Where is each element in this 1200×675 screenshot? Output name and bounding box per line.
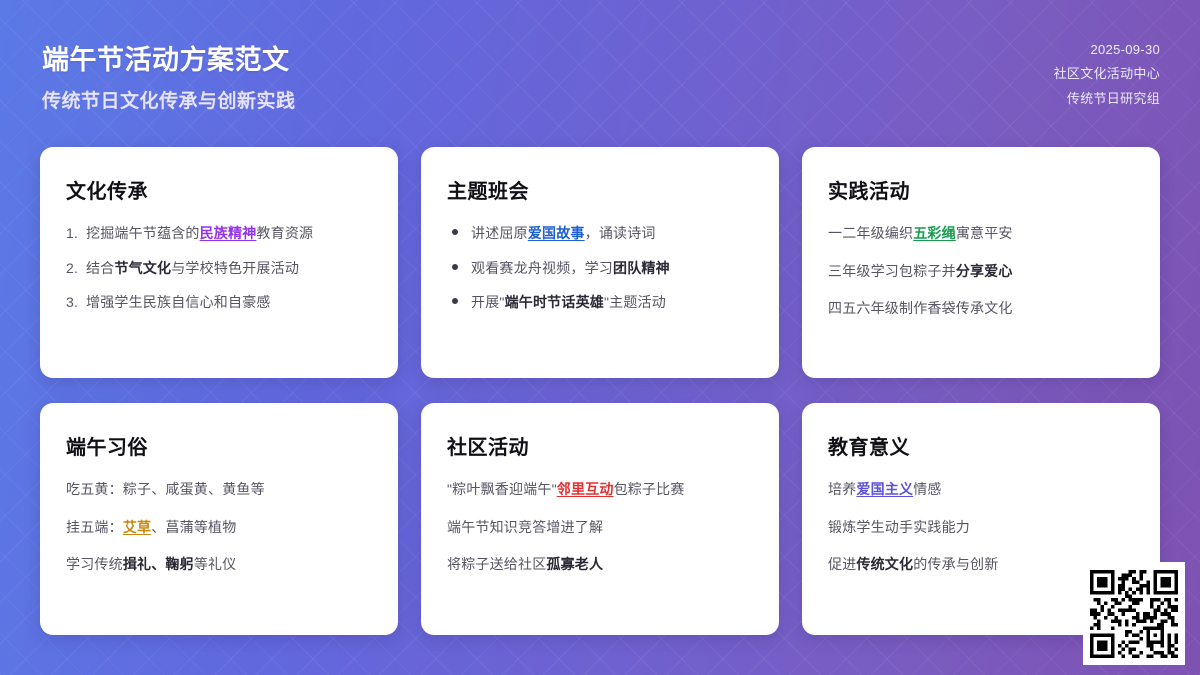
card-title: 实践活动 bbox=[828, 175, 1134, 204]
text-run: 挖掘端午节蕴含的 bbox=[86, 225, 200, 241]
list-item: 四五六年级制作香袋传承文化 bbox=[828, 298, 1134, 320]
highlight-term: 五彩绳 bbox=[913, 225, 956, 241]
emphasis-bold: 孤寡老人 bbox=[546, 556, 603, 572]
card-title: 社区活动 bbox=[447, 431, 753, 460]
text-run: 锻炼学生动手实践能力 bbox=[828, 519, 970, 535]
text-run: 促进 bbox=[828, 556, 856, 572]
card-title: 教育意义 bbox=[828, 431, 1134, 460]
list-item: 挂五端：艾草、菖蒲等植物 bbox=[66, 517, 372, 539]
emphasis-bold: 团队精神 bbox=[613, 260, 670, 276]
text-run: "粽叶飘香迎端午" bbox=[447, 481, 557, 497]
list-item: 1.挖掘端午节蕴含的民族精神教育资源 bbox=[66, 223, 372, 245]
list-marker: 3. bbox=[66, 292, 78, 314]
list-item: 一二年级编织五彩绳寓意平安 bbox=[828, 223, 1134, 245]
text-run: 四五六年级制作香袋传承文化 bbox=[828, 300, 1013, 316]
qr-code[interactable] bbox=[1083, 562, 1185, 665]
text-run: ，诵读诗词 bbox=[585, 225, 656, 241]
text-run: 将粽子送给社区 bbox=[447, 556, 546, 572]
page-title: 端午节活动方案范文 bbox=[42, 38, 296, 77]
list-marker: 1. bbox=[66, 223, 78, 245]
list-item: 讲述屈原爱国故事，诵读诗词 bbox=[447, 223, 753, 245]
emphasis-bold: 揖礼、鞠躬 bbox=[123, 556, 194, 572]
emphasis-bold: 分享爱心 bbox=[956, 263, 1013, 279]
meta-date: 2025-09-30 bbox=[1091, 42, 1161, 57]
bullet-icon bbox=[452, 229, 458, 235]
text-run: 、菖蒲等植物 bbox=[151, 519, 236, 535]
text-run: 观看赛龙舟视频，学习 bbox=[471, 260, 613, 276]
list-item: 观看赛龙舟视频，学习团队精神 bbox=[447, 258, 753, 280]
text-run: 三年级学习包粽子并 bbox=[828, 263, 956, 279]
highlight-term: 艾草 bbox=[123, 519, 151, 535]
list-item: 2.结合节气文化与学校特色开展活动 bbox=[66, 258, 372, 280]
card-body: 一二年级编织五彩绳寓意平安三年级学习包粽子并分享爱心四五六年级制作香袋传承文化 bbox=[828, 223, 1134, 336]
content-card: 社区活动"粽叶飘香迎端午"邻里互动包粽子比赛端午节知识竞答增进了解将粽子送给社区… bbox=[421, 403, 779, 635]
text-run: "主题活动 bbox=[604, 294, 666, 310]
highlight-term: 爱国主义 bbox=[856, 481, 913, 497]
highlight-term: 邻里互动 bbox=[557, 481, 614, 497]
content-card: 实践活动一二年级编织五彩绳寓意平安三年级学习包粽子并分享爱心四五六年级制作香袋传… bbox=[802, 147, 1160, 378]
list-item: 吃五黄：粽子、咸蛋黄、黄鱼等 bbox=[66, 479, 372, 501]
text-run: 开展" bbox=[471, 294, 505, 310]
meta-organization: 社区文化活动中心 bbox=[1054, 63, 1160, 82]
card-body: 吃五黄：粽子、咸蛋黄、黄鱼等挂五端：艾草、菖蒲等植物学习传统揖礼、鞠躬等礼仪 bbox=[66, 479, 372, 592]
content-card: 端午习俗吃五黄：粽子、咸蛋黄、黄鱼等挂五端：艾草、菖蒲等植物学习传统揖礼、鞠躬等… bbox=[40, 403, 398, 635]
list-item: 开展"端午时节话英雄"主题活动 bbox=[447, 292, 753, 314]
text-run: 结合 bbox=[86, 260, 114, 276]
list-item: "粽叶飘香迎端午"邻里互动包粽子比赛 bbox=[447, 479, 753, 501]
list-item: 端午节知识竞答增进了解 bbox=[447, 517, 753, 539]
card-title: 端午习俗 bbox=[66, 431, 372, 460]
bullet-icon bbox=[452, 264, 458, 270]
card-title: 文化传承 bbox=[66, 175, 372, 204]
text-run: 与学校特色开展活动 bbox=[171, 260, 299, 276]
emphasis-bold: 节气文化 bbox=[114, 260, 171, 276]
emphasis-bold: 端午时节话英雄 bbox=[505, 294, 604, 310]
text-run: 教育资源 bbox=[256, 225, 313, 241]
page-subtitle: 传统节日文化传承与创新实践 bbox=[42, 86, 296, 113]
highlight-term: 民族精神 bbox=[200, 225, 257, 241]
highlight-term: 爱国故事 bbox=[528, 225, 585, 241]
text-run: 等礼仪 bbox=[194, 556, 237, 572]
card-body: "粽叶飘香迎端午"邻里互动包粽子比赛端午节知识竞答增进了解将粽子送给社区孤寡老人 bbox=[447, 479, 753, 592]
list-item: 锻炼学生动手实践能力 bbox=[828, 517, 1134, 539]
text-run: 情感 bbox=[913, 481, 941, 497]
list-item: 培养爱国主义情感 bbox=[828, 479, 1134, 501]
qr-code-icon bbox=[1090, 570, 1178, 658]
content-card: 主题班会讲述屈原爱国故事，诵读诗词观看赛龙舟视频，学习团队精神开展"端午时节话英… bbox=[421, 147, 779, 378]
emphasis-bold: 传统文化 bbox=[856, 556, 913, 572]
header-title-group: 端午节活动方案范文 传统节日文化传承与创新实践 bbox=[42, 38, 296, 113]
text-run: 讲述屈原 bbox=[471, 225, 528, 241]
card-body: 讲述屈原爱国故事，诵读诗词观看赛龙舟视频，学习团队精神开展"端午时节话英雄"主题… bbox=[447, 223, 753, 314]
slide-header: 端午节活动方案范文 传统节日文化传承与创新实践 2025-09-30 社区文化活… bbox=[0, 0, 1200, 130]
text-run: 端午节知识竞答增进了解 bbox=[447, 519, 603, 535]
text-run: 一二年级编织 bbox=[828, 225, 913, 241]
cards-grid: 文化传承1.挖掘端午节蕴含的民族精神教育资源2.结合节气文化与学校特色开展活动3… bbox=[40, 147, 1160, 636]
content-card: 文化传承1.挖掘端午节蕴含的民族精神教育资源2.结合节气文化与学校特色开展活动3… bbox=[40, 147, 398, 378]
card-title: 主题班会 bbox=[447, 175, 753, 204]
bullet-icon bbox=[452, 298, 458, 304]
text-run: 寓意平安 bbox=[956, 225, 1013, 241]
text-run: 的传承与创新 bbox=[913, 556, 998, 572]
list-item: 3.增强学生民族自信心和自豪感 bbox=[66, 292, 372, 314]
text-run: 学习传统 bbox=[66, 556, 123, 572]
list-marker: 2. bbox=[66, 258, 78, 280]
meta-department: 传统节日研究组 bbox=[1067, 88, 1160, 107]
text-run: 挂五端： bbox=[66, 519, 123, 535]
list-item: 将粽子送给社区孤寡老人 bbox=[447, 554, 753, 576]
slide-page: 端午节活动方案范文 传统节日文化传承与创新实践 2025-09-30 社区文化活… bbox=[0, 0, 1200, 675]
card-body: 1.挖掘端午节蕴含的民族精神教育资源2.结合节气文化与学校特色开展活动3.增强学… bbox=[66, 223, 372, 314]
list-item: 三年级学习包粽子并分享爱心 bbox=[828, 261, 1134, 283]
text-run: 吃五黄：粽子、咸蛋黄、黄鱼等 bbox=[66, 481, 265, 497]
text-run: 培养 bbox=[828, 481, 856, 497]
text-run: 包粽子比赛 bbox=[614, 481, 685, 497]
header-meta: 2025-09-30 社区文化活动中心 传统节日研究组 bbox=[1054, 38, 1160, 107]
text-run: 增强学生民族自信心和自豪感 bbox=[86, 294, 271, 310]
list-item: 学习传统揖礼、鞠躬等礼仪 bbox=[66, 554, 372, 576]
